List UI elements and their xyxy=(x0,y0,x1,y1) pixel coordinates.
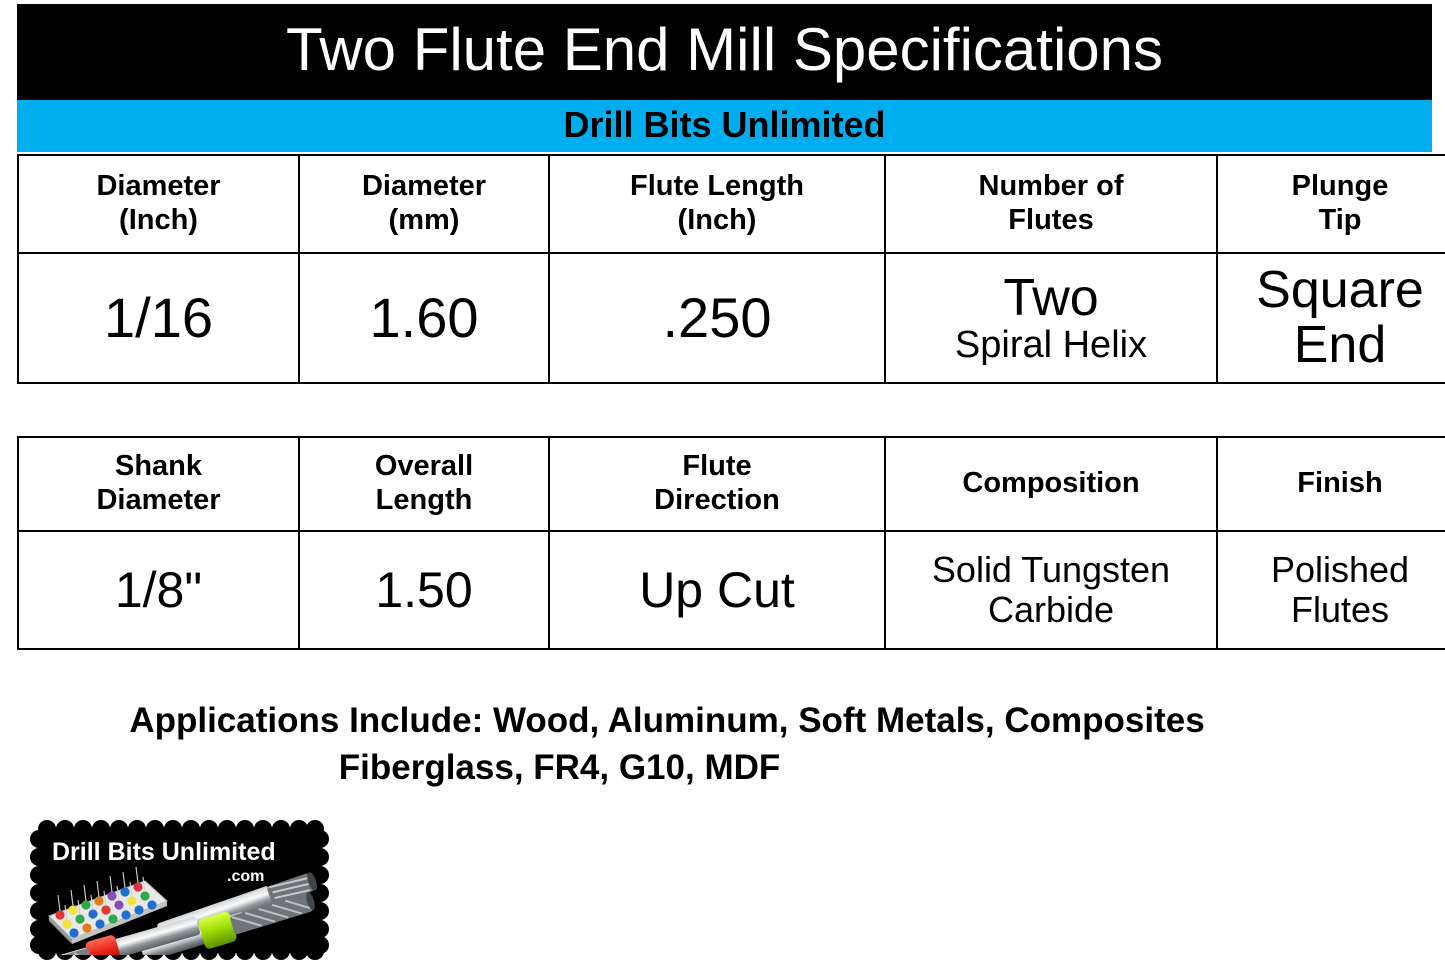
header-line-1: Composition xyxy=(888,467,1214,501)
table-row-headers: Shank Diameter Overall Length Flute Dire… xyxy=(18,437,1445,531)
header-cell-finish: Finish xyxy=(1217,437,1445,531)
spec-table-primary: Diameter (Inch) Diameter (mm) Flute Leng… xyxy=(17,154,1445,384)
spec-sheet: Two Flute End Mill Specifications Drill … xyxy=(0,0,1445,973)
logo-stamp-icon: Drill Bits Unlimited .com xyxy=(27,817,332,963)
brand-name: Drill Bits Unlimited xyxy=(563,107,885,143)
value-cell-flute-length: .250 xyxy=(549,253,885,383)
header-line-1: Overall xyxy=(302,450,546,484)
value-cell-flute-direction: Up Cut xyxy=(549,531,885,649)
header-cell-composition: Composition xyxy=(885,437,1217,531)
value-line-1: Solid Tungsten xyxy=(888,550,1214,590)
spec-table-secondary: Shank Diameter Overall Length Flute Dire… xyxy=(17,436,1445,650)
header-cell-number-of-flutes: Number of Flutes xyxy=(885,155,1217,253)
logo-tld-text: .com xyxy=(227,868,264,885)
value-cell-overall-length: 1.50 xyxy=(299,531,549,649)
header-line-1: Diameter xyxy=(21,170,296,204)
header-line-2: Length xyxy=(302,484,546,518)
header-cell-shank-diameter: Shank Diameter xyxy=(18,437,299,531)
value-line-1: Square xyxy=(1220,263,1445,318)
applications-line-2: Fiberglass, FR4, G10, MDF xyxy=(17,745,1432,792)
header-cell-diameter-mm: Diameter (mm) xyxy=(299,155,549,253)
value-line-1: Polished xyxy=(1220,550,1445,590)
header-line-1: Finish xyxy=(1220,467,1445,501)
table-row-values: 1/8" 1.50 Up Cut Solid Tungsten Carbide … xyxy=(18,531,1445,649)
value-cell-finish: Polished Flutes xyxy=(1217,531,1445,649)
value-line-1: Two xyxy=(888,271,1214,325)
value-cell-diameter-mm: 1.60 xyxy=(299,253,549,383)
header-cell-plunge-tip: Plunge Tip xyxy=(1217,155,1445,253)
title-banner: Two Flute End Mill Specifications xyxy=(17,4,1432,100)
page-title: Two Flute End Mill Specifications xyxy=(286,20,1163,80)
header-cell-flute-direction: Flute Direction xyxy=(549,437,885,531)
value-cell-shank-diameter: 1/8" xyxy=(18,531,299,649)
drill-bits-unlimited-logo: Drill Bits Unlimited .com xyxy=(27,817,332,963)
header-line-2: (Inch) xyxy=(552,204,882,238)
table-row-headers: Diameter (Inch) Diameter (mm) Flute Leng… xyxy=(18,155,1445,253)
applications-note: Applications Include: Wood, Aluminum, So… xyxy=(17,698,1432,792)
header-line-2: Direction xyxy=(552,484,882,518)
value-cell-plunge-tip: Square End xyxy=(1217,253,1445,383)
header-line-2: (Inch) xyxy=(21,204,296,238)
header-line-2: Flutes xyxy=(888,204,1214,238)
header-line-1: Flute xyxy=(552,450,882,484)
header-line-1: Diameter xyxy=(302,170,546,204)
value-line-2: Flutes xyxy=(1220,590,1445,630)
brand-banner: Drill Bits Unlimited xyxy=(17,100,1432,152)
header-line-1: Flute Length xyxy=(552,170,882,204)
header-cell-flute-length: Flute Length (Inch) xyxy=(549,155,885,253)
value-cell-number-of-flutes: Two Spiral Helix xyxy=(885,253,1217,383)
header-cell-diameter-inch: Diameter (Inch) xyxy=(18,155,299,253)
header-line-1: Shank xyxy=(21,450,296,484)
header-line-2: Tip xyxy=(1220,204,1445,238)
logo-brand-text: Drill Bits Unlimited xyxy=(52,838,276,866)
value-line-2: Carbide xyxy=(888,590,1214,630)
header-cell-overall-length: Overall Length xyxy=(299,437,549,531)
value-line-2: Spiral Helix xyxy=(888,325,1214,365)
header-line-2: Diameter xyxy=(21,484,296,518)
value-line-2: End xyxy=(1220,318,1445,373)
value-cell-diameter-inch: 1/16 xyxy=(18,253,299,383)
header-line-2: (mm) xyxy=(302,204,546,238)
table-row-values: 1/16 1.60 .250 Two Spiral Helix Square E… xyxy=(18,253,1445,383)
header-line-1: Number of xyxy=(888,170,1214,204)
header-line-1: Plunge xyxy=(1220,170,1445,204)
applications-line-1: Applications Include: Wood, Aluminum, So… xyxy=(17,698,1432,745)
value-cell-composition: Solid Tungsten Carbide xyxy=(885,531,1217,649)
